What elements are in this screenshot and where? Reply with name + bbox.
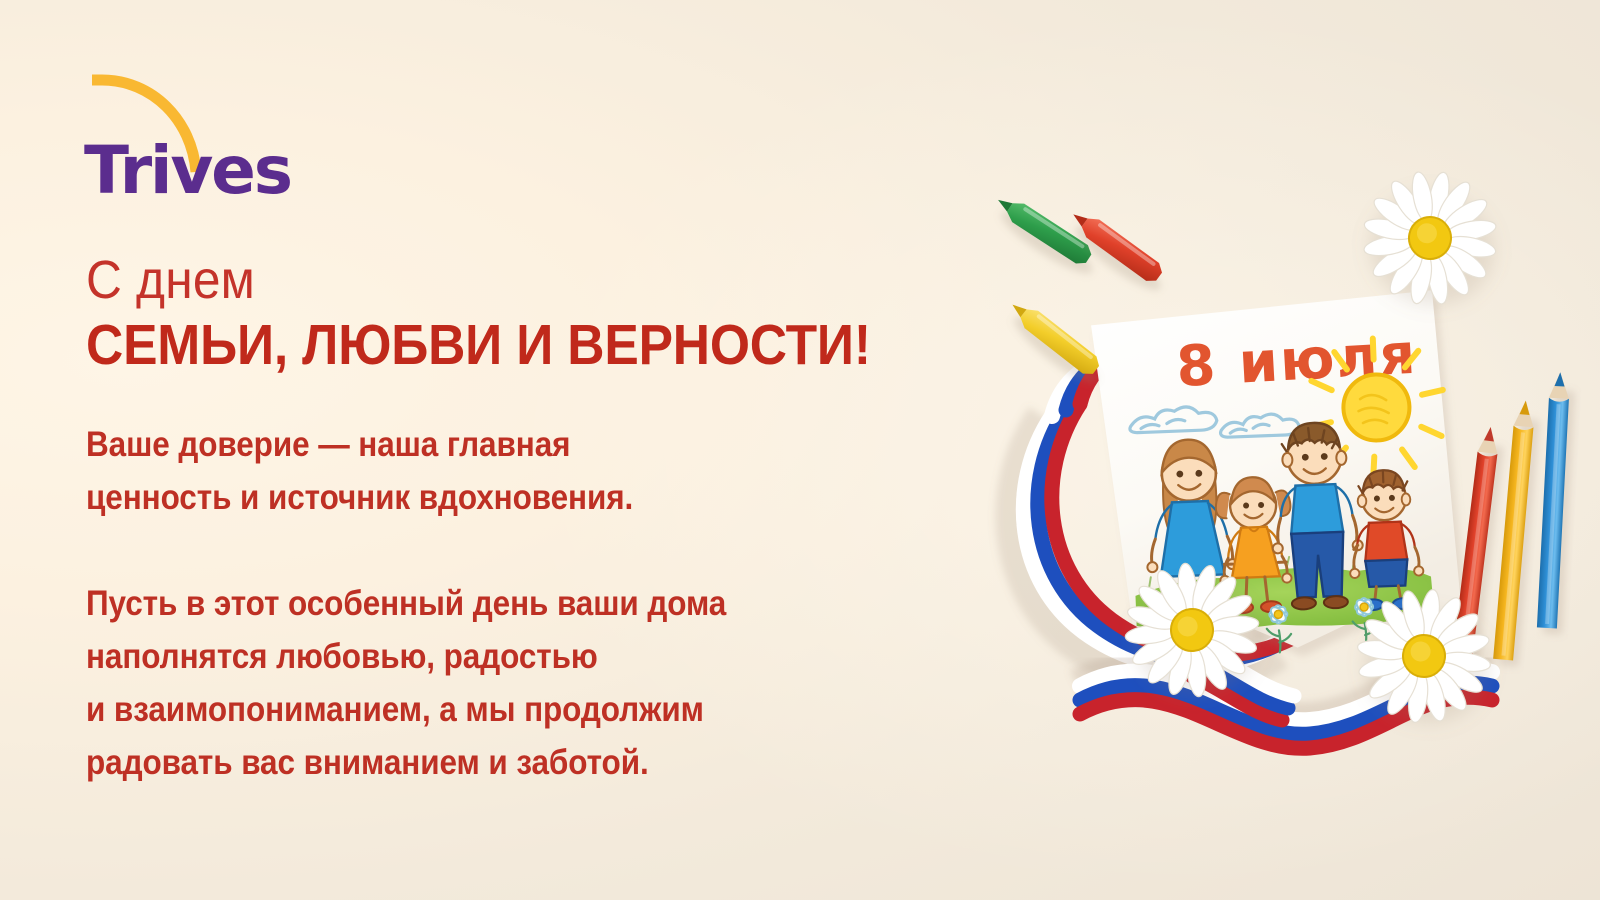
brand-name: Trives xyxy=(84,138,291,204)
blue-pencil xyxy=(1537,372,1577,635)
paragraph-line: Пусть в этот особенный день ваши дома xyxy=(86,577,896,630)
paragraph-line: Ваше доверие — наша главная xyxy=(86,418,896,471)
headline-line-2: СЕМЬИ, ЛЮБВИ И ВЕРНОСТИ! xyxy=(86,314,882,378)
greeting-banner: Trives С днем СЕМЬИ, ЛЮБВИ И ВЕРНОСТИ! В… xyxy=(0,0,1600,900)
paragraph-line: наполнятся любовью, радостью xyxy=(86,630,896,683)
headline: С днем СЕМЬИ, ЛЮБВИ И ВЕРНОСТИ! xyxy=(86,252,966,378)
daisy-flower xyxy=(1351,159,1510,318)
yellow-pencil xyxy=(1493,400,1542,667)
paragraph-line: радовать вас вниманием и заботой. xyxy=(86,736,896,789)
paragraph-line: ценность и источник вдохновения. xyxy=(86,471,896,524)
paragraph-trust: Ваше доверие — наша главная ценность и и… xyxy=(86,418,986,524)
paragraph-line: и взаимопониманием, а мы продолжим xyxy=(86,683,896,736)
headline-line-1: С днем xyxy=(86,252,896,310)
text-column: Trives С днем СЕМЬИ, ЛЮБВИ И ВЕРНОСТИ! В… xyxy=(86,0,966,900)
yellow-crayon xyxy=(1000,296,1110,391)
brand-logo[interactable]: Trives xyxy=(86,72,326,204)
family-drawing-photo: 8 июля xyxy=(930,120,1600,780)
paragraph-wishes: Пусть в этот особенный день ваши дома на… xyxy=(86,577,986,789)
